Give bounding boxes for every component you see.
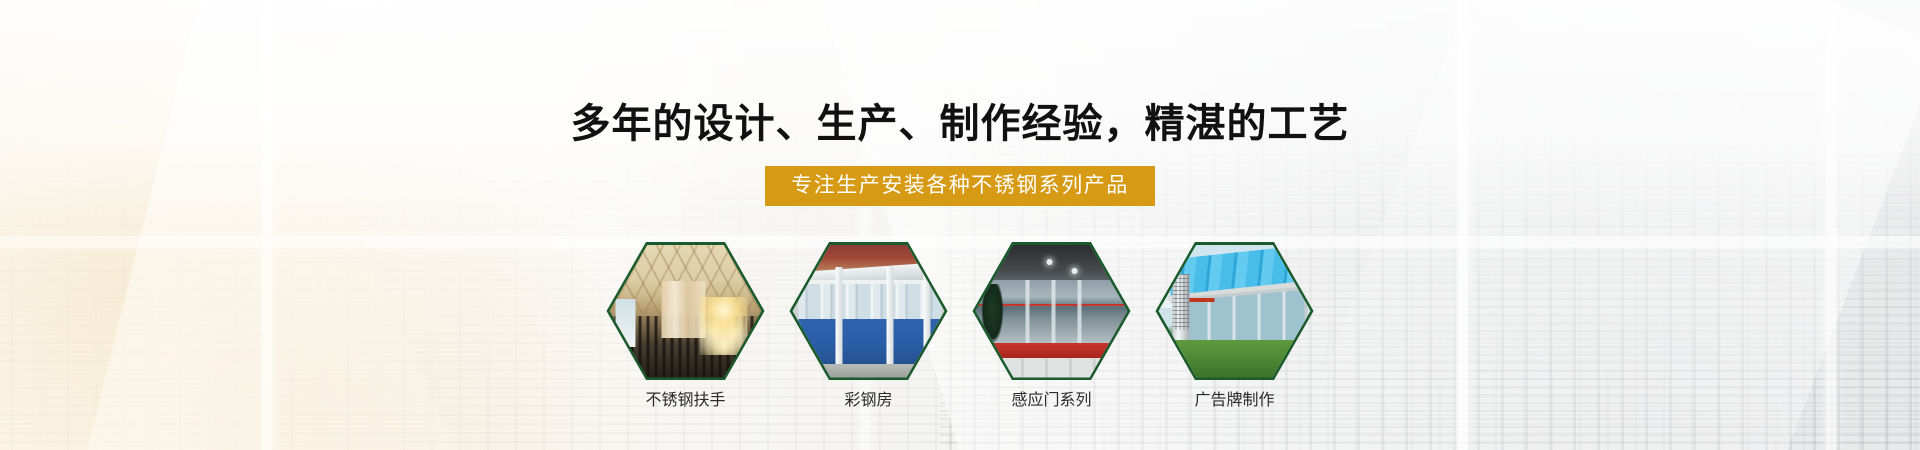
hexagon-photo-steel-booth <box>793 245 945 378</box>
hexagon-photo-sensor-door <box>976 245 1128 378</box>
door-mullion <box>1052 280 1056 343</box>
product-card-list: 不锈钢扶手 <box>607 242 1314 410</box>
billboard-grass <box>1159 340 1311 377</box>
billboard-photo <box>1159 245 1311 378</box>
hexagon-frame <box>1156 242 1314 380</box>
tiled-floor <box>976 358 1128 378</box>
promo-banner: 多年的设计、生产、制作经验，精湛的工艺 专注生产安装各种不锈钢系列产品 不锈钢扶… <box>0 0 1920 450</box>
chandelier-detail <box>700 297 748 355</box>
banner-headline: 多年的设计、生产、制作经验，精湛的工艺 <box>0 102 1920 146</box>
product-card-label: 不锈钢扶手 <box>645 392 725 410</box>
booth-post <box>835 267 842 365</box>
hexagon-photo-billboard <box>1159 245 1311 378</box>
billboard-perforated-mesh <box>1172 274 1189 330</box>
subbanner-tagline: 专注生产安装各种不锈钢系列产品 <box>765 166 1155 206</box>
door-mullion <box>1026 280 1030 343</box>
product-card-label: 广告牌制作 <box>1194 392 1274 410</box>
sensor-door-photo <box>976 245 1128 378</box>
product-card-sensor-door[interactable]: 感应门系列 <box>973 242 1131 410</box>
hexagon-frame <box>607 242 765 380</box>
product-card-handrail[interactable]: 不锈钢扶手 <box>607 242 765 410</box>
hexagon-frame <box>790 242 948 380</box>
hexagon-photo-handrail <box>610 245 762 378</box>
booth-blue-wall <box>799 319 942 366</box>
booth-ground <box>793 364 945 377</box>
hexagon-frame <box>973 242 1131 380</box>
billboard-red-header <box>1189 298 1215 302</box>
product-card-label: 感应门系列 <box>1011 392 1091 410</box>
booth-post <box>887 267 894 365</box>
potted-plant <box>982 284 1004 343</box>
subbanner-row: 专注生产安装各种不锈钢系列产品 <box>0 166 1920 206</box>
doorway-detail <box>616 299 636 347</box>
door-mullion <box>1077 280 1081 343</box>
product-card-label: 彩钢房 <box>844 392 892 410</box>
booth-post <box>923 267 930 365</box>
steel-booth-photo <box>793 245 945 378</box>
red-carpet <box>976 343 1128 358</box>
banner-content: 多年的设计、生产、制作经验，精湛的工艺 专注生产安装各种不锈钢系列产品 不锈钢扶… <box>0 0 1920 450</box>
product-card-steel-booth[interactable]: 彩钢房 <box>790 242 948 410</box>
product-card-billboard[interactable]: 广告牌制作 <box>1156 242 1314 410</box>
